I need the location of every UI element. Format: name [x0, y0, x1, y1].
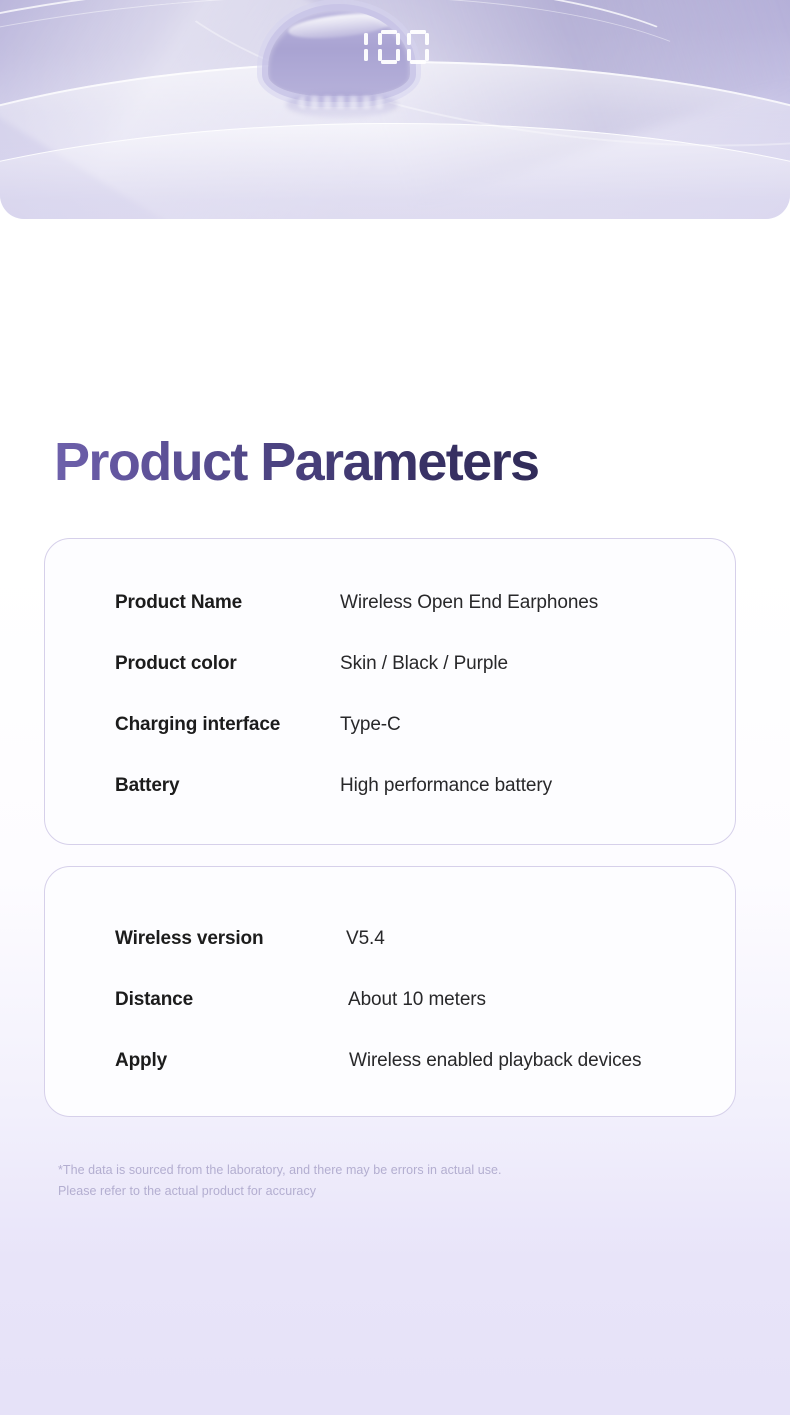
disclaimer-footnote: *The data is sourced from the laboratory… — [58, 1160, 502, 1202]
wireless-spec-card: Wireless version V5.4 Distance About 10 … — [44, 866, 736, 1117]
spec-label: Product color — [115, 653, 340, 675]
hero-body-curve-lower — [0, 123, 790, 219]
seven-segment-digit — [378, 30, 400, 64]
footnote-line-2: Please refer to the actual product for a… — [58, 1181, 502, 1202]
spec-row: Distance About 10 meters — [45, 989, 735, 1011]
spec-label: Distance — [115, 989, 346, 1011]
display-reflection-digits — [298, 96, 386, 109]
spec-value: V5.4 — [346, 928, 385, 950]
spec-value: Type-C — [340, 714, 401, 736]
spec-row: Charging interface Type-C — [45, 714, 735, 736]
page-title: Product Parameters — [54, 435, 538, 489]
spec-row: Product Name Wireless Open End Earphones — [45, 592, 735, 614]
spec-row: Wireless version V5.4 — [45, 928, 735, 950]
spec-label: Charging interface — [115, 714, 340, 736]
spec-value: About 10 meters — [348, 989, 486, 1011]
footnote-line-1: *The data is sourced from the laboratory… — [58, 1160, 502, 1181]
spec-label: Battery — [115, 775, 340, 797]
hero-specular-arc-3 — [112, 0, 790, 189]
spec-label: Product Name — [115, 592, 340, 614]
spec-value: High performance battery — [340, 775, 552, 797]
product-parameters-page: Product Parameters Product Name Wireless… — [0, 0, 790, 1415]
spec-label: Apply — [115, 1050, 346, 1072]
spec-label: Wireless version — [115, 928, 346, 950]
seven-segment-digit — [362, 30, 371, 64]
product-spec-card: Product Name Wireless Open End Earphones… — [44, 538, 736, 845]
seven-segment-digit — [407, 30, 429, 64]
spec-value: Skin / Black / Purple — [340, 653, 508, 675]
spec-row: Product color Skin / Black / Purple — [45, 653, 735, 675]
battery-level-display — [0, 30, 790, 64]
hero-product-image — [0, 0, 790, 219]
spec-value: Wireless Open End Earphones — [340, 592, 598, 614]
spec-row: Apply Wireless enabled playback devices — [45, 1050, 735, 1072]
spec-value: Wireless enabled playback devices — [349, 1050, 641, 1072]
spec-row: Battery High performance battery — [45, 775, 735, 797]
